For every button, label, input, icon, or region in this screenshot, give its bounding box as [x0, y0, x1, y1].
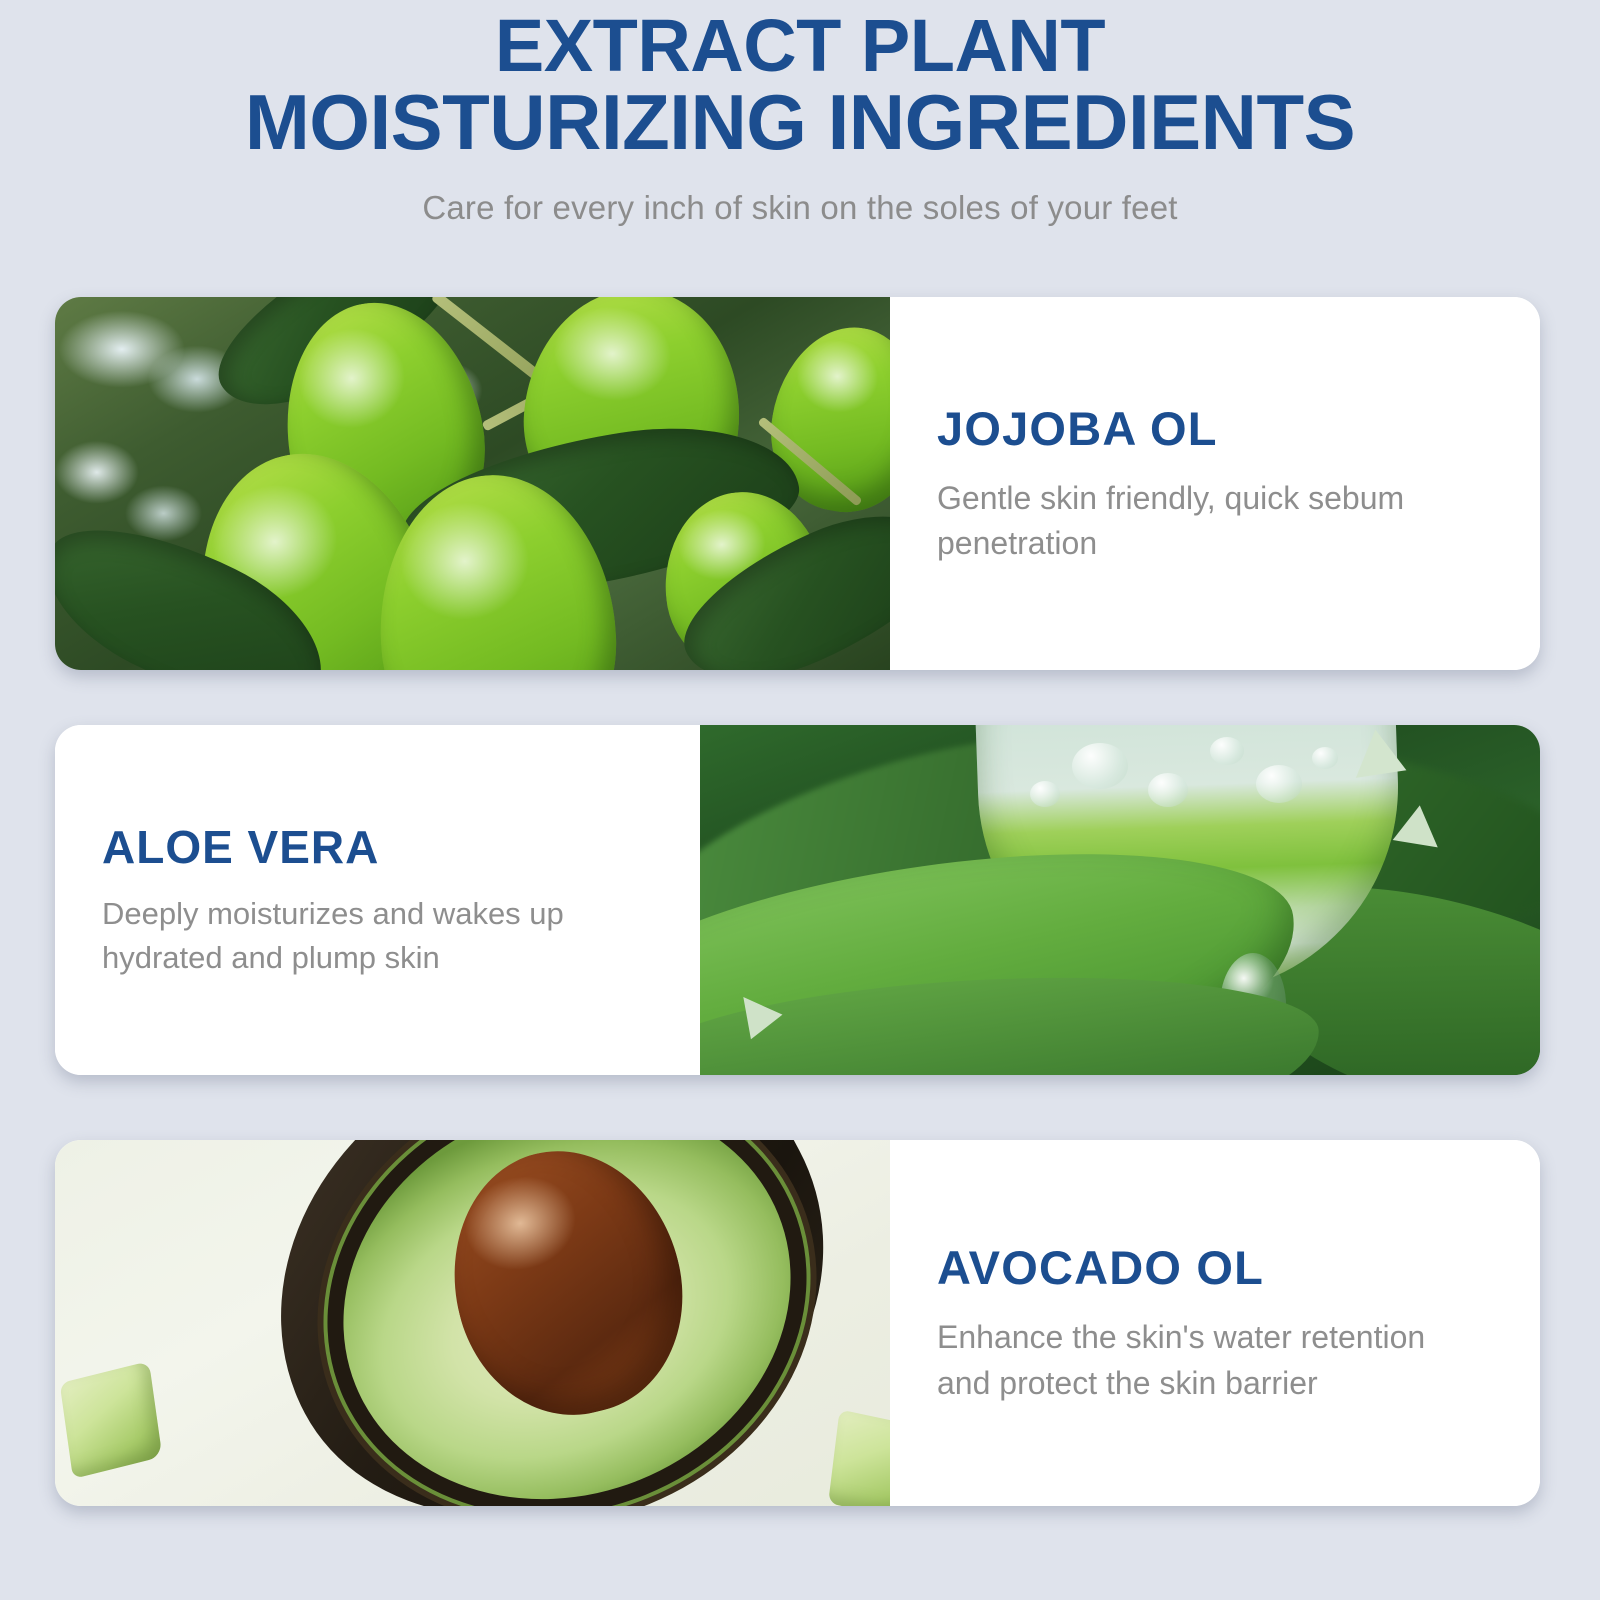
aloe-vera-text-block: ALOE VERA Deeply moisturizes and wakes u… — [55, 725, 700, 1075]
page-subtitle: Care for every inch of skin on the soles… — [0, 189, 1600, 227]
water-droplet — [1256, 765, 1302, 803]
jojoba-photo — [55, 297, 890, 670]
water-droplet — [1312, 747, 1338, 769]
avocado-title: AVOCADO OL — [937, 1240, 1480, 1295]
avocado-text-block: AVOCADO OL Enhance the skin's water rete… — [890, 1140, 1540, 1506]
header: EXTRACT PLANT MOISTURIZING INGREDIENTS C… — [0, 0, 1600, 227]
page-title-line-1: EXTRACT PLANT — [0, 8, 1600, 83]
jojoba-description: Gentle skin friendly, quick sebum penetr… — [937, 476, 1480, 567]
avocado-chunk — [60, 1361, 163, 1479]
ingredient-card-avocado: AVOCADO OL Enhance the skin's water rete… — [55, 1140, 1540, 1506]
avocado-image — [55, 1140, 890, 1506]
olive-branch-image — [55, 297, 890, 670]
page-title: EXTRACT PLANT MOISTURIZING INGREDIENTS — [0, 0, 1600, 163]
jojoba-title: JOJOBA OL — [937, 401, 1480, 456]
aloe-vera-photo — [700, 725, 1540, 1075]
aloe-vera-title: ALOE VERA — [102, 820, 640, 874]
aloe-leaf-image — [700, 725, 1540, 1075]
ingredient-card-jojoba: JOJOBA OL Gentle skin friendly, quick se… — [55, 297, 1540, 670]
page-title-line-2: MOISTURIZING INGREDIENTS — [0, 83, 1600, 163]
infographic-page: EXTRACT PLANT MOISTURIZING INGREDIENTS C… — [0, 0, 1600, 1600]
water-droplet — [1030, 781, 1060, 807]
ingredient-card-aloe-vera: ALOE VERA Deeply moisturizes and wakes u… — [55, 725, 1540, 1075]
avocado-chunk — [828, 1409, 890, 1506]
water-droplet — [1072, 743, 1128, 789]
avocado-description: Enhance the skin's water retention and p… — [937, 1315, 1480, 1406]
water-droplet — [1210, 737, 1244, 765]
avocado-photo — [55, 1140, 890, 1506]
jojoba-text-block: JOJOBA OL Gentle skin friendly, quick se… — [890, 297, 1540, 670]
water-droplet — [1148, 773, 1188, 807]
aloe-vera-description: Deeply moisturizes and wakes up hydrated… — [102, 892, 640, 980]
